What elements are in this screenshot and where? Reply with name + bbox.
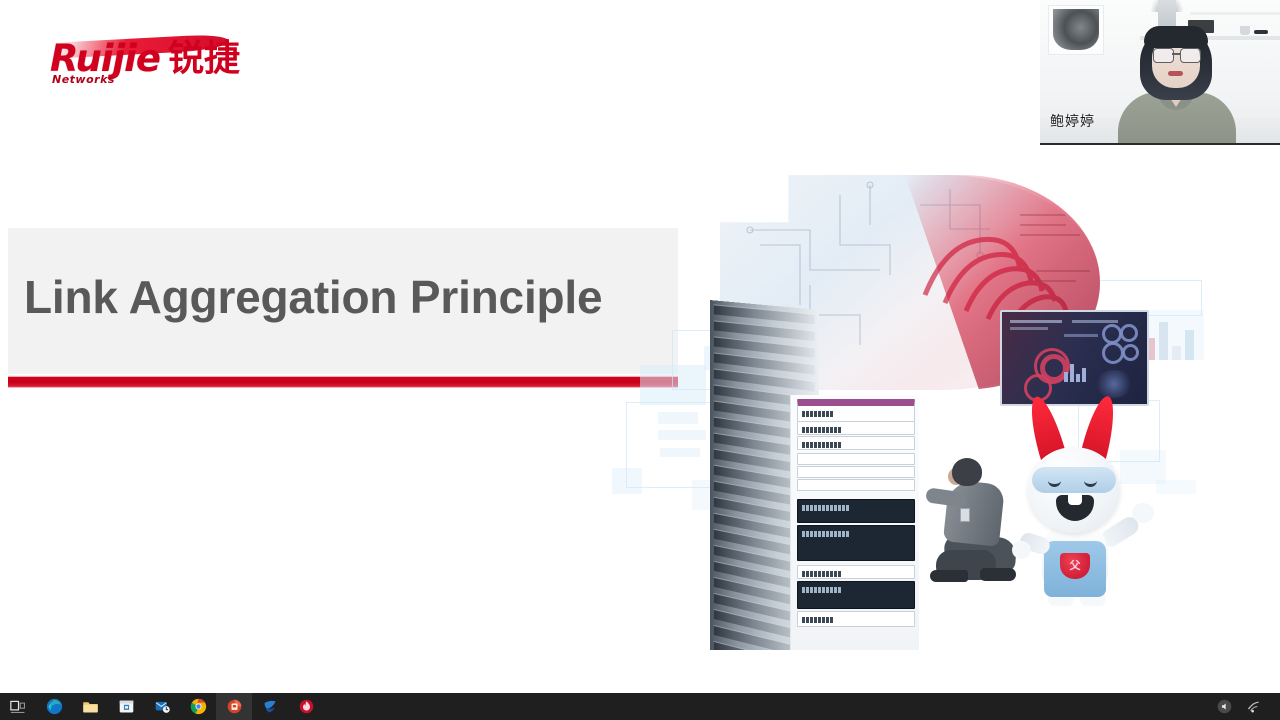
logo-chinese-name: 锐捷 — [168, 40, 240, 78]
shelf-object — [1254, 30, 1268, 34]
network-switch — [797, 479, 915, 491]
mail-glyph — [154, 698, 171, 715]
taskbar-app-list — [0, 693, 324, 720]
page-title: Link Aggregation Principle — [24, 268, 664, 326]
meeting-app-glyph — [262, 698, 279, 715]
glasses-bridge — [1172, 53, 1180, 55]
mascot-hand-left — [1012, 541, 1031, 559]
network-switch — [797, 466, 915, 478]
logo-subtitle: Networks — [52, 73, 115, 86]
mascot-hand-right — [1132, 503, 1154, 523]
slide-illustration: 父 — [600, 150, 1280, 650]
flame-glyph — [298, 698, 315, 715]
webcam-thumbnail[interactable]: 鲍婷婷 — [1040, 0, 1280, 145]
network-switch — [797, 436, 915, 450]
network-switch — [797, 611, 915, 627]
network-switch-stack — [790, 395, 919, 650]
network-switch — [797, 525, 915, 561]
folder-glyph — [82, 698, 99, 715]
mascot-pocket-logo-icon: 父 — [1069, 560, 1081, 571]
powerpoint-glyph — [226, 698, 243, 715]
edge-icon[interactable] — [36, 693, 72, 720]
flame-icon[interactable] — [288, 693, 324, 720]
task-view-glyph — [10, 698, 27, 715]
network-switch — [797, 565, 915, 579]
wall-art-image — [1053, 9, 1099, 50]
volume-glyph — [1216, 698, 1233, 715]
network-switch — [797, 499, 915, 523]
wall-art-frame — [1048, 5, 1104, 55]
edge-glyph — [46, 698, 63, 715]
wps-icon[interactable] — [252, 693, 288, 720]
network-switch — [797, 581, 915, 609]
shelf-cup — [1240, 26, 1250, 35]
ruijie-logo: Ruijie 锐捷 Networks — [50, 40, 260, 88]
network-icon[interactable] — [1245, 698, 1262, 715]
chrome-glyph — [190, 698, 207, 715]
glasses-lens-right — [1180, 48, 1201, 63]
dashboard-monitor — [1000, 310, 1149, 406]
store-icon[interactable] — [108, 693, 144, 720]
network-glyph — [1245, 698, 1262, 715]
mascot-goggles — [1032, 467, 1116, 493]
store-glyph — [118, 698, 135, 715]
file-explorer-icon[interactable] — [72, 693, 108, 720]
network-switch — [797, 421, 915, 435]
rabbit-mascot: 父 — [1000, 395, 1170, 620]
wall-shelf-upper — [1190, 12, 1280, 15]
person-fringe — [1144, 26, 1208, 48]
mail-icon[interactable] — [144, 693, 180, 720]
network-switch — [797, 453, 915, 465]
bg-chip — [612, 468, 642, 494]
bg-chip — [660, 448, 700, 457]
participant-name-label: 鲍婷婷 — [1050, 111, 1095, 131]
title-accent-bar — [8, 375, 678, 388]
taskbar-system-tray — [1216, 693, 1280, 720]
person-lips — [1168, 71, 1183, 76]
mascot-teeth — [1068, 493, 1082, 505]
taskbar — [0, 693, 1280, 720]
volume-icon[interactable] — [1216, 698, 1233, 715]
task-view-icon[interactable] — [0, 693, 36, 720]
screen: Ruijie 锐捷 Networks Link Aggregation Prin… — [0, 0, 1280, 720]
powerpoint-icon[interactable] — [216, 693, 252, 720]
chrome-icon[interactable] — [180, 693, 216, 720]
glasses-lens-left — [1153, 48, 1174, 63]
